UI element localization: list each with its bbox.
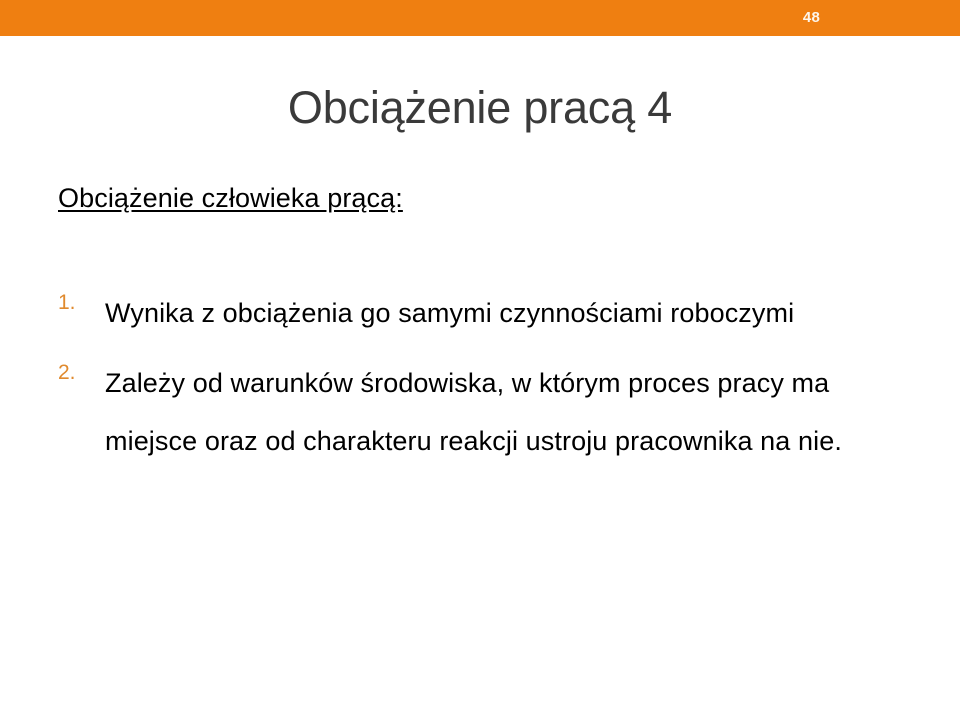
page-title: Obciążenie pracą 4	[0, 82, 960, 134]
page-number: 48	[803, 10, 820, 26]
header-bar: 48	[0, 0, 960, 36]
list-item: 2. Zależy od warunków środowiska, w któr…	[58, 354, 904, 470]
content-subheading: Obciążenie człowieka prącą:	[58, 180, 403, 216]
list-item-text: Zależy od warunków środowiska, w którym …	[105, 368, 842, 456]
content-body: Obciążenie człowieka prącą: 1. Wynika z …	[58, 180, 904, 482]
list-item: 1. Wynika z obciążenia go samymi czynnoś…	[58, 284, 904, 342]
list-item-text: Wynika z obciążenia go samymi czynnościa…	[105, 298, 794, 328]
numbered-list: 1. Wynika z obciążenia go samymi czynnoś…	[58, 284, 904, 470]
slide: 48 Obciążenie pracą 4 Obciążenie człowie…	[0, 0, 960, 720]
list-marker: 1.	[58, 291, 98, 315]
list-marker: 2.	[58, 361, 98, 385]
